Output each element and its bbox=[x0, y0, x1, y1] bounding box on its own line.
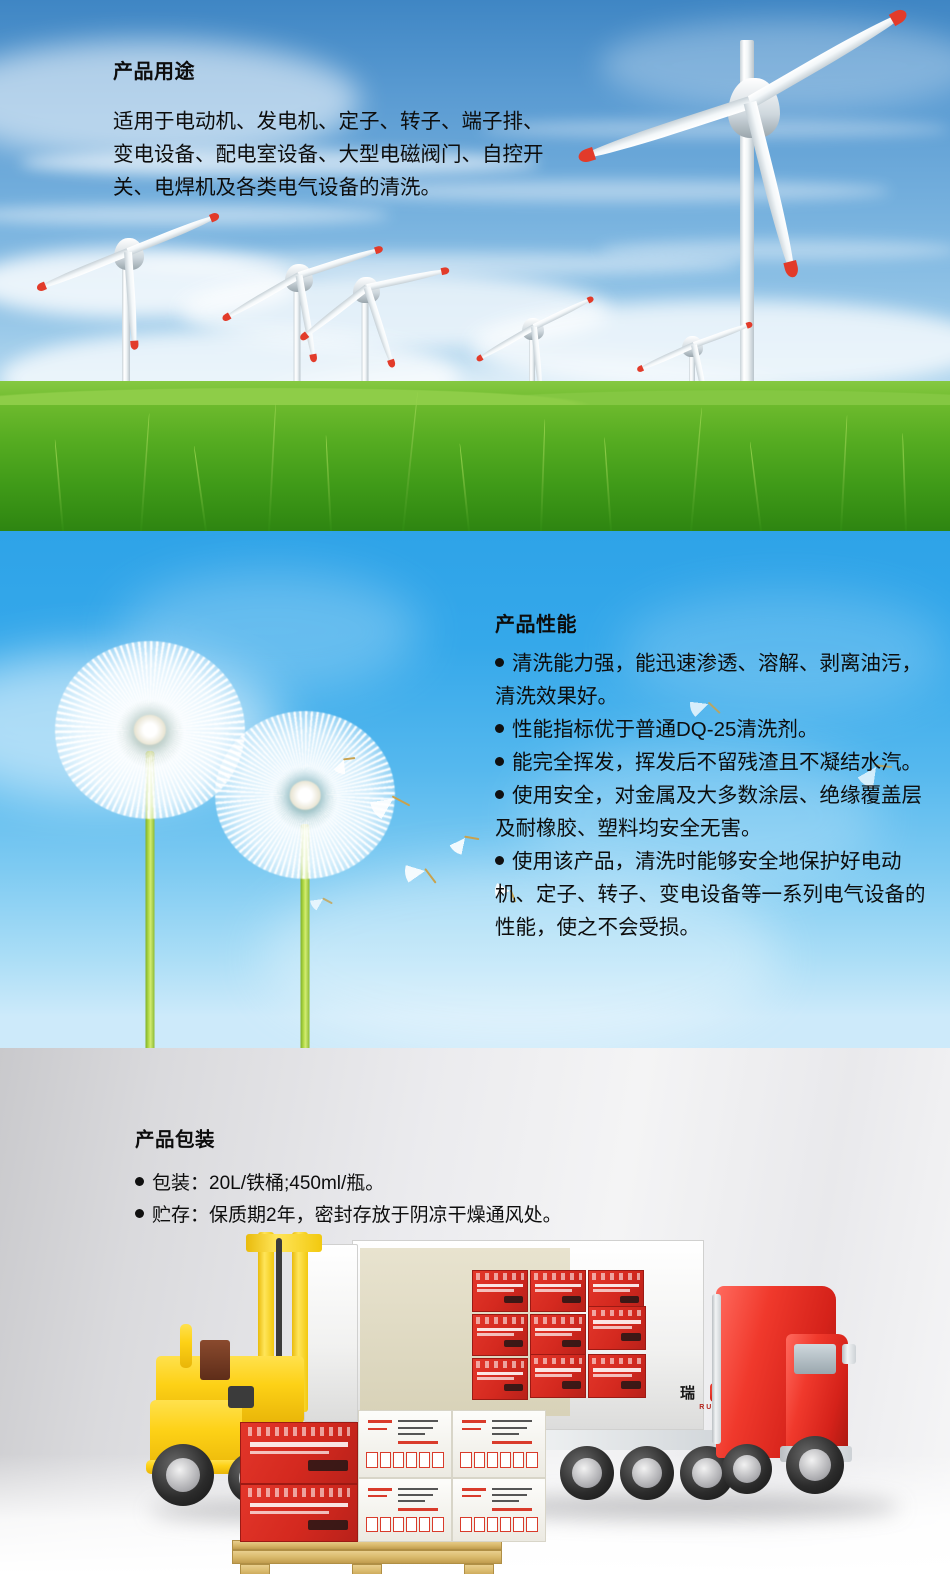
usage-text-block: 产品用途 适用于电动机、发电机、定子、转子、端子排、 变电设备、配电室设备、大型… bbox=[113, 58, 653, 204]
bullet-icon bbox=[495, 724, 504, 733]
dandelion-right bbox=[215, 711, 395, 1048]
usage-heading: 产品用途 bbox=[113, 58, 653, 86]
product-detail-page: 产品用途 适用于电动机、发电机、定子、转子、端子排、 变电设备、配电室设备、大型… bbox=[0, 0, 950, 1574]
bullet-icon bbox=[495, 856, 504, 865]
carton-red bbox=[588, 1306, 646, 1350]
list-item-text: 使用安全，对金属及大多数涂层、绝缘覆盖层及耐橡胶、塑料均安全无害。 bbox=[495, 784, 922, 840]
bullet-icon bbox=[135, 1177, 144, 1186]
list-item: 使用安全，对金属及大多数涂层、绝缘覆盖层及耐橡胶、塑料均安全无害。 bbox=[495, 779, 940, 845]
list-item-text: 性能指标优于普通DQ-25清洗剂。 bbox=[512, 718, 818, 741]
wooden-pallet bbox=[232, 1550, 502, 1564]
carton-white bbox=[358, 1410, 452, 1478]
carton-red bbox=[530, 1314, 586, 1356]
carton-white bbox=[452, 1478, 546, 1542]
forklift-seat bbox=[200, 1340, 230, 1380]
section-product-usage: 产品用途 适用于电动机、发电机、定子、转子、端子排、 变电设备、配电室设备、大型… bbox=[0, 0, 950, 531]
dandelion-puff bbox=[215, 711, 395, 879]
carton-red bbox=[530, 1354, 586, 1398]
carton-white bbox=[452, 1410, 546, 1478]
list-item-text: 能完全挥发，挥发后不留残渣且不凝结水汽。 bbox=[512, 751, 922, 774]
carton-red bbox=[530, 1270, 586, 1312]
usage-paragraph: 适用于电动机、发电机、定子、转子、端子排、 变电设备、配电室设备、大型电磁阀门、… bbox=[113, 105, 653, 204]
list-item-text: 使用该产品，清洗时能够安全地保护好电动机、定子、转子、变电设备等一系列电气设备的… bbox=[495, 850, 926, 939]
bullet-icon bbox=[495, 757, 504, 766]
cab-mirror bbox=[842, 1344, 856, 1364]
forklift-overhead-guard bbox=[180, 1324, 192, 1368]
wooden-pallet-leg bbox=[464, 1564, 494, 1574]
packaging-text-block: 产品包装 包装：20L/铁桶;450ml/瓶。 贮存：保质期2年，密封存放于阴凉… bbox=[135, 1126, 755, 1232]
list-item-text: 包装：20L/铁桶;450ml/瓶。 bbox=[152, 1173, 384, 1194]
carton-white bbox=[358, 1478, 452, 1542]
forklift-carriage bbox=[246, 1234, 322, 1252]
carton-red-front bbox=[240, 1484, 358, 1542]
list-item: 使用该产品，清洗时能够安全地保护好电动机、定子、转子、变电设备等一系列电气设备的… bbox=[495, 845, 940, 944]
list-item: 性能指标优于普通DQ-25清洗剂。 bbox=[495, 713, 940, 746]
forklift-panel bbox=[228, 1386, 254, 1408]
usage-paragraph-line: 关、电焊机及各类电气设备的清洗。 bbox=[113, 171, 653, 204]
section-product-packaging: 产品包装 包装：20L/铁桶;450ml/瓶。 贮存：保质期2年，密封存放于阴凉… bbox=[0, 1048, 950, 1574]
forklift-rear-wheel bbox=[152, 1444, 214, 1506]
packaging-heading: 产品包装 bbox=[135, 1126, 755, 1154]
bullet-icon bbox=[135, 1209, 144, 1218]
trailer-wheel bbox=[620, 1446, 674, 1500]
list-item: 清洗能力强，能迅速渗透、溶解、剥离油污，清洗效果好。 bbox=[495, 647, 940, 713]
carton-red bbox=[472, 1358, 528, 1400]
grass-field bbox=[0, 381, 950, 531]
cab-window bbox=[794, 1344, 836, 1374]
list-item: 能完全挥发，挥发后不留残渣且不凝结水汽。 bbox=[495, 746, 940, 779]
carton-red bbox=[588, 1354, 646, 1398]
bullet-icon bbox=[495, 658, 504, 667]
cab-exhaust-stack bbox=[712, 1294, 721, 1444]
trailer-wheel bbox=[560, 1446, 614, 1500]
wooden-pallet-leg bbox=[352, 1564, 382, 1574]
performance-heading: 产品性能 bbox=[495, 611, 940, 639]
logo-hanzi-left: 瑞 bbox=[680, 1382, 695, 1403]
carton-red bbox=[472, 1314, 528, 1356]
packaging-bullet-list: 包装：20L/铁桶;450ml/瓶。 贮存：保质期2年，密封存放于阴凉干燥通风处… bbox=[135, 1168, 755, 1232]
trailer-door[interactable] bbox=[304, 1244, 358, 1422]
list-item: 贮存：保质期2年，密封存放于阴凉干燥通风处。 bbox=[135, 1200, 755, 1232]
list-item: 包装：20L/铁桶;450ml/瓶。 bbox=[135, 1168, 755, 1200]
carton-red-front bbox=[240, 1422, 358, 1484]
bullet-icon bbox=[495, 790, 504, 799]
dandelion-seed bbox=[444, 817, 487, 860]
carton-red bbox=[472, 1270, 528, 1312]
section-product-performance: 产品性能 清洗能力强，能迅速渗透、溶解、剥离油污，清洗效果好。 性能指标优于普通… bbox=[0, 531, 950, 1048]
cab-rear-wheel bbox=[722, 1444, 772, 1494]
list-item-text: 贮存：保质期2年，密封存放于阴凉干燥通风处。 bbox=[152, 1205, 562, 1226]
wooden-pallet-leg bbox=[240, 1564, 270, 1574]
performance-text-block: 产品性能 清洗能力强，能迅速渗透、溶解、剥离油污，清洗效果好。 性能指标优于普通… bbox=[495, 611, 940, 944]
performance-bullet-list: 清洗能力强，能迅速渗透、溶解、剥离油污，清洗效果好。 性能指标优于普通DQ-25… bbox=[495, 647, 940, 944]
usage-paragraph-line: 适用于电动机、发电机、定子、转子、端子排、 bbox=[113, 105, 653, 138]
dandelion-seed bbox=[310, 886, 336, 912]
dandelion-seed bbox=[370, 776, 416, 822]
cab-wheel bbox=[786, 1436, 844, 1494]
usage-paragraph-line: 变电设备、配电室设备、大型电磁阀门、自控开 bbox=[113, 138, 653, 171]
list-item-text: 清洗能力强，能迅速渗透、溶解、剥离油污，清洗效果好。 bbox=[495, 652, 922, 708]
